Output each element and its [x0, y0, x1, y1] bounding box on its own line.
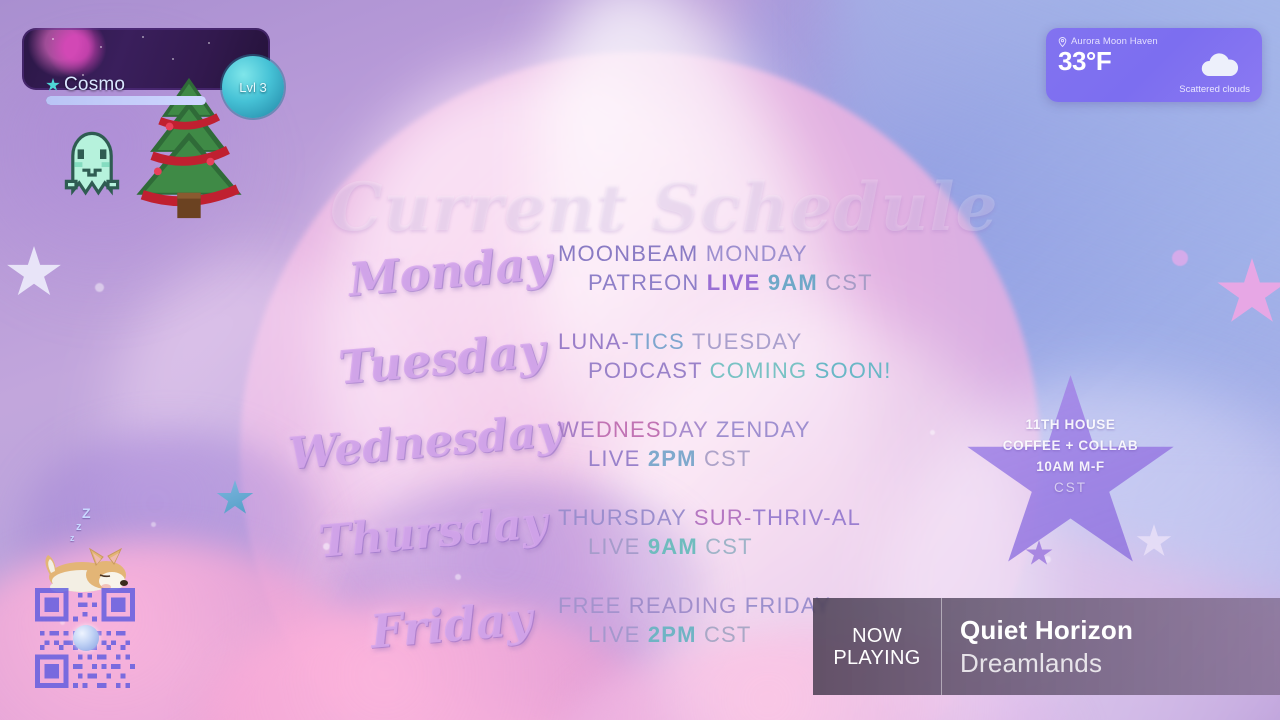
- now-playing-info: Quiet Horizon Dreamlands: [942, 598, 1280, 695]
- schedule-day-name: Tuesday: [336, 323, 589, 391]
- pet-level-badge: Lvl 3: [222, 56, 284, 118]
- sleeping-corgi-sprite: [38, 535, 134, 595]
- schedule-text-segment: TUESDAY: [692, 329, 803, 354]
- schedule-text-segment: 2PM: [648, 446, 704, 471]
- schedule-text-segment: THURSDAY: [558, 505, 694, 530]
- star-badge-line2: COFFEE + COLLAB: [963, 436, 1178, 457]
- star-badge-line1: 11TH HOUSE: [963, 415, 1178, 436]
- schedule-text-segment: CST: [704, 446, 752, 471]
- moon-icon: [73, 625, 99, 651]
- schedule-event-line1: LUNA-TICS TUESDAY: [558, 328, 1028, 357]
- schedule-text-segment: LUNA-: [558, 329, 630, 354]
- now-playing-track: Quiet Horizon: [960, 614, 1280, 647]
- schedule-text-segment: LIVE: [588, 446, 648, 471]
- star-badge-text: 11TH HOUSE COFFEE + COLLAB 10AM M-F CST: [963, 415, 1178, 499]
- schedule-event-line1: MOONBEAM MONDAY: [558, 240, 1028, 269]
- schedule-event: LUNA-TICS TUESDAYPODCAST COMING SOON!: [558, 328, 1028, 385]
- schedule-day-name: Thursday: [317, 499, 570, 565]
- now-playing-bar: NOW PLAYING Quiet Horizon Dreamlands: [813, 598, 1280, 695]
- schedule-event-line2: PATREON LIVE 9AM CST: [558, 269, 1028, 298]
- schedule-text-segment: ZENDAY: [716, 417, 811, 442]
- schedule-day-name: Wednesday: [287, 411, 540, 477]
- schedule-text-segment: CST: [704, 622, 752, 647]
- ghost-sprite: [60, 120, 124, 214]
- pet-name: Cosmo: [64, 74, 125, 96]
- schedule-event: MOONBEAM MONDAYPATREON LIVE 9AM CST: [558, 240, 1028, 297]
- schedule-text-segment: PODCAST: [588, 358, 710, 383]
- schedule-text-segment: PATREON: [588, 270, 707, 295]
- schedule-event-line1: WEDNESDAY ZENDAY: [558, 416, 1028, 445]
- schedule-text-segment: DNES: [596, 417, 662, 442]
- schedule-text-segment: DAY: [662, 417, 716, 442]
- schedule-text-segment: 2PM: [648, 622, 704, 647]
- pet-xp-bar: [46, 96, 206, 105]
- schedule-text-segment: TICS: [630, 329, 692, 354]
- schedule-text-segment: LIVE: [588, 534, 648, 559]
- schedule-text-segment: MONDAY: [706, 241, 808, 266]
- now-playing-label-line1: NOW: [852, 625, 902, 647]
- schedule-event-line1: THURSDAY SUR-THRIV-AL: [558, 504, 1028, 533]
- schedule-event: WEDNESDAY ZENDAYLIVE 2PM CST: [558, 416, 1028, 473]
- schedule-event-line2: LIVE 2PM CST: [558, 445, 1028, 474]
- schedule-text-segment: THRIV-AL: [752, 505, 861, 530]
- now-playing-artist: Dreamlands: [960, 647, 1280, 680]
- schedule-text-segment: SOON!: [815, 358, 892, 383]
- schedule-text-segment: 9AM: [768, 270, 825, 295]
- schedule-text-segment: WE: [558, 417, 596, 442]
- schedule-event-line2: LIVE 9AM CST: [558, 533, 1028, 562]
- star-badge-line4: CST: [963, 478, 1178, 499]
- star-badge-collab: 11TH HOUSE COFFEE + COLLAB 10AM M-F CST: [963, 375, 1178, 580]
- schedule-text-segment: CST: [705, 534, 753, 559]
- stream-overlay-stage: Cosmo Lvl 3: [0, 0, 1280, 720]
- schedule-text-segment: 9AM: [648, 534, 705, 559]
- now-playing-label: NOW PLAYING: [813, 598, 942, 695]
- schedule-text-segment: MOONBEAM: [558, 241, 706, 266]
- star-badge-line3: 10AM M-F: [963, 457, 1178, 478]
- schedule-text-segment: READING: [629, 593, 745, 618]
- schedule-event-line2: PODCAST COMING SOON!: [558, 357, 1028, 386]
- schedule-event: THURSDAY SUR-THRIV-ALLIVE 9AM CST: [558, 504, 1028, 561]
- schedule-text-segment: CST: [825, 270, 873, 295]
- schedule-text-segment: COMING: [710, 358, 815, 383]
- schedule-text-segment: LIVE: [707, 270, 768, 295]
- pet-xp-fill: [46, 96, 206, 105]
- schedule-text-segment: SUR-: [694, 505, 753, 530]
- schedule-text-segment: FREE: [558, 593, 629, 618]
- now-playing-label-line2: PLAYING: [833, 647, 920, 669]
- schedule-text-segment: LIVE: [588, 622, 648, 647]
